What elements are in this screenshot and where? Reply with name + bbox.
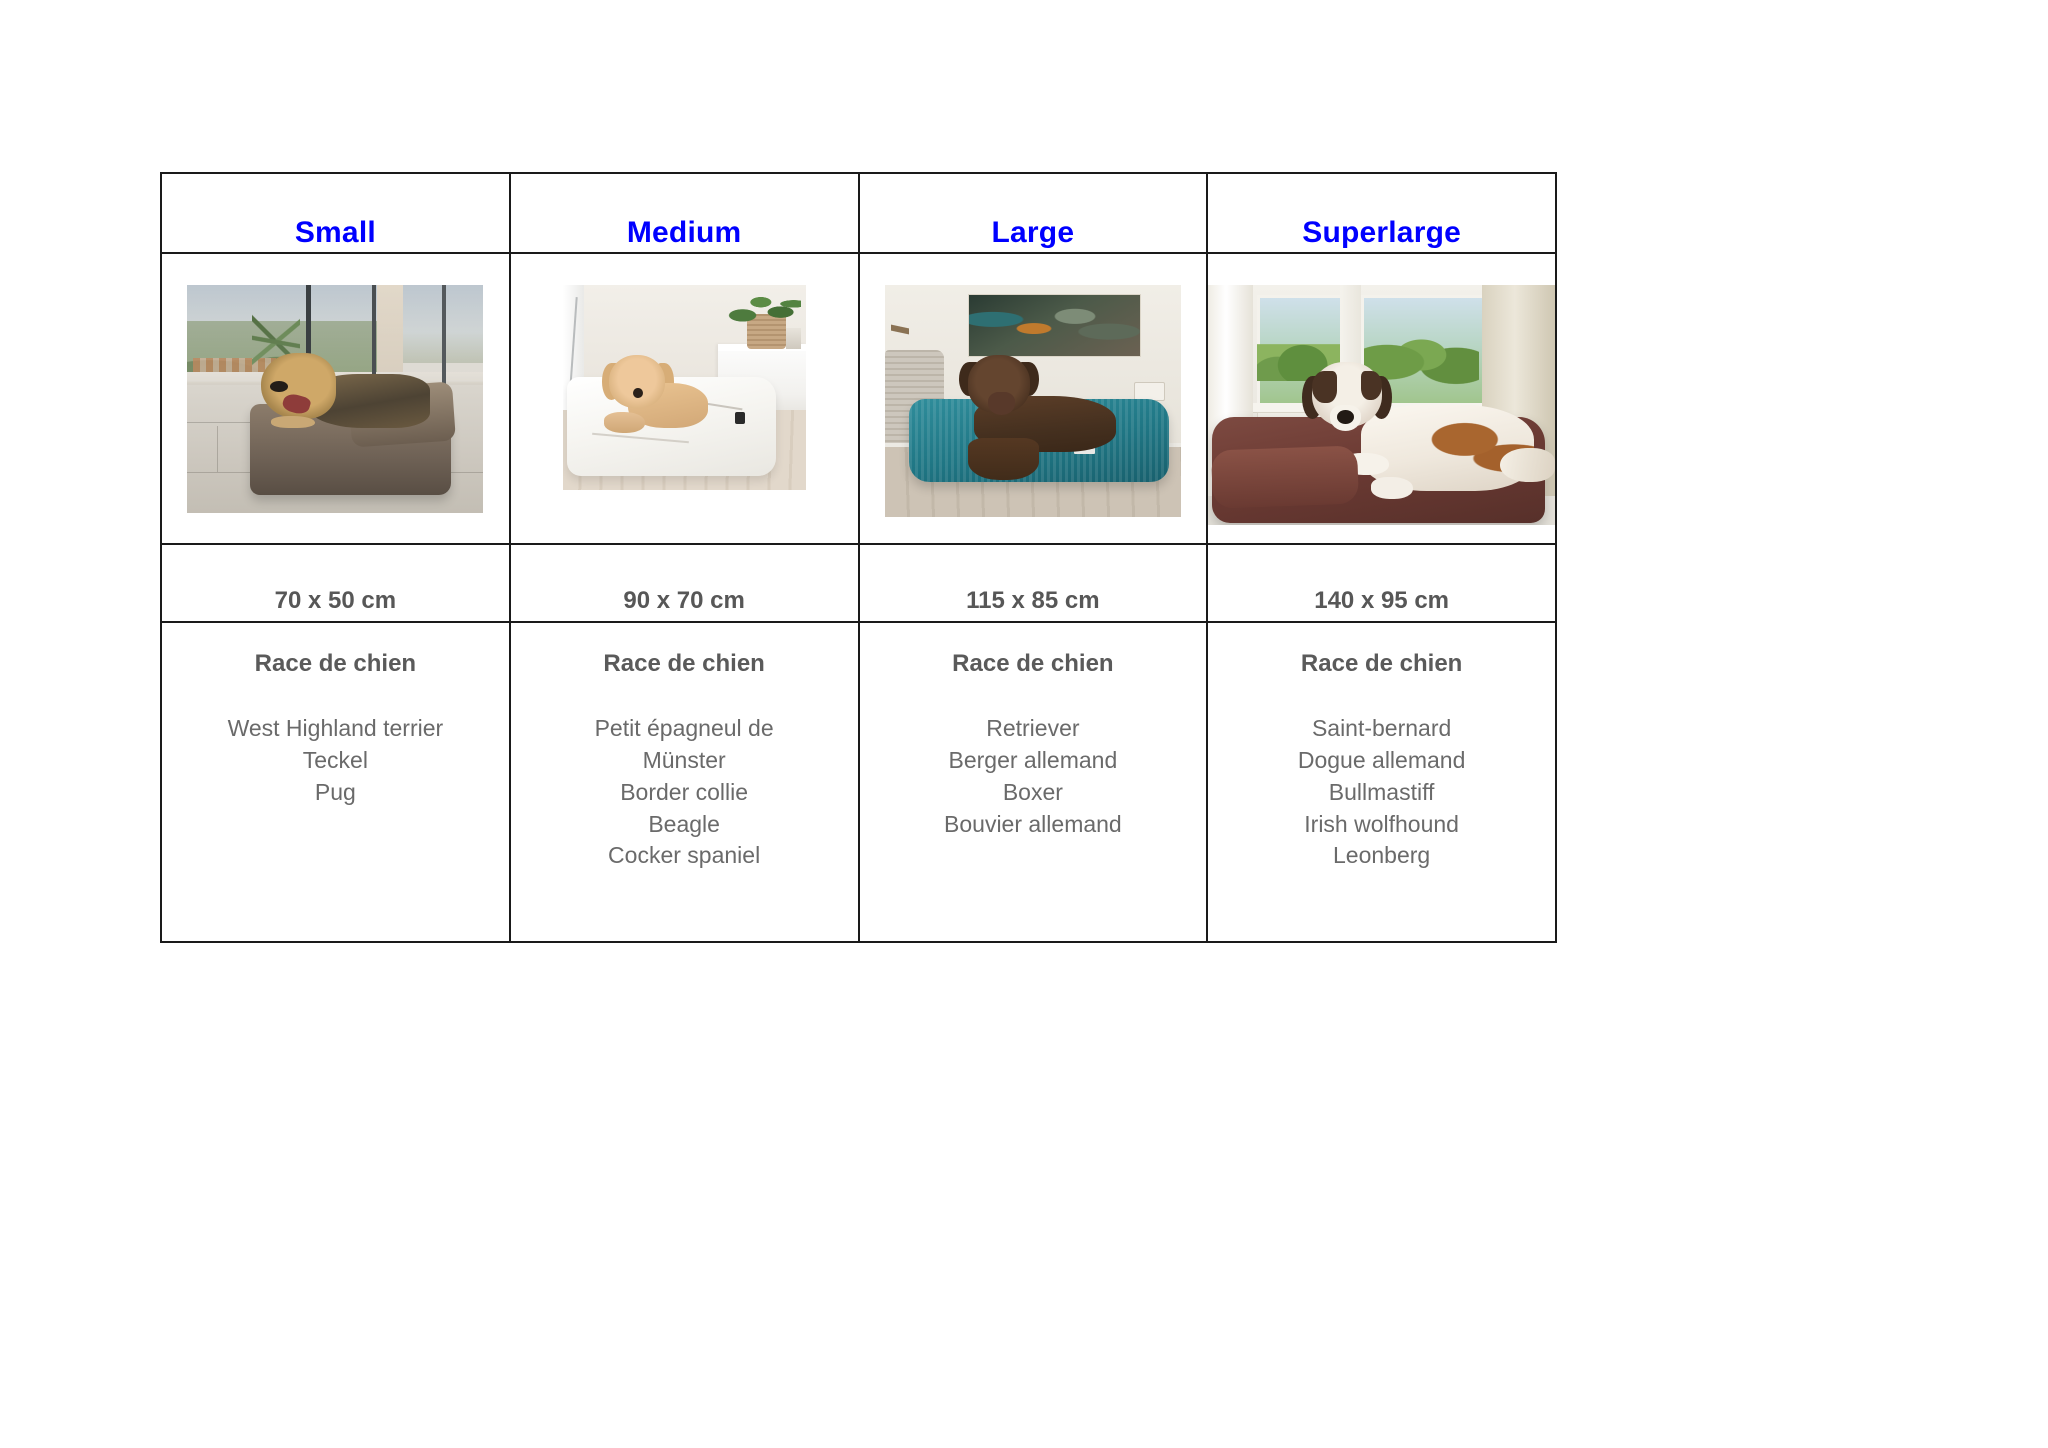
breed-item: Pug — [162, 777, 509, 809]
photo-cell-large — [859, 253, 1208, 544]
column-header-label: Medium — [511, 218, 858, 248]
dimension-cell-small: 70 x 50 cm — [161, 544, 510, 622]
table-header-row: Small Medium Large Superlarge — [161, 173, 1556, 253]
dimension-label: 115 x 85 cm — [860, 589, 1207, 613]
photo-dog-paws — [604, 412, 645, 433]
photo-dog-snout — [988, 392, 1015, 415]
photo-cell-small — [161, 253, 510, 544]
breed-item: West Highland terrier — [162, 713, 509, 745]
breeds-title: Race de chien — [511, 651, 858, 677]
photo-cell-medium — [510, 253, 859, 544]
photo-dog-front-legs — [968, 438, 1039, 480]
product-photo-large — [885, 285, 1181, 517]
breeds-cell-medium: Race de chien Petit épagneul de Münster … — [510, 622, 859, 942]
photo-dog-paw — [1371, 477, 1413, 499]
column-header-label: Large — [860, 218, 1207, 248]
photo-window-mullion — [442, 285, 446, 390]
breed-item: Berger allemand — [860, 745, 1207, 777]
breeds-cell-superlarge: Race de chien Saint-bernard Dogue allema… — [1207, 622, 1556, 942]
photo-dog-paw — [271, 416, 315, 429]
photo-dog-tail — [1500, 448, 1555, 482]
breed-item: Border collie — [511, 777, 858, 809]
breed-item: Saint-bernard — [1208, 713, 1555, 745]
header-cell-large: Large — [859, 173, 1208, 253]
breed-item: Retriever — [860, 713, 1207, 745]
breed-item: Leonberg — [1208, 840, 1555, 872]
product-photo-small — [187, 285, 483, 513]
breed-item: Bouvier allemand — [860, 809, 1207, 841]
breed-item: Petit épagneul de — [511, 713, 858, 745]
dimension-cell-superlarge: 140 x 95 cm — [1207, 544, 1556, 622]
photo-wall-art — [968, 294, 1142, 356]
breeds-title: Race de chien — [1208, 651, 1555, 677]
dimension-cell-large: 115 x 85 cm — [859, 544, 1208, 622]
breed-item: Beagle — [511, 809, 858, 841]
document-page: Small Medium Large Superlarge — [0, 0, 2048, 1448]
photo-frame-medium — [511, 254, 858, 543]
column-header-label: Superlarge — [1208, 218, 1555, 248]
photo-dog-eye-patch-right — [1361, 371, 1382, 400]
breeds-cell-large: Race de chien Retriever Berger allemand … — [859, 622, 1208, 942]
photo-frame-large — [860, 254, 1207, 543]
product-photo-superlarge — [1208, 285, 1555, 525]
breed-item: Boxer — [860, 777, 1207, 809]
photo-brand-tag — [735, 412, 745, 424]
table-dimensions-row: 70 x 50 cm 90 x 70 cm 115 x 85 cm 140 x … — [161, 544, 1556, 622]
photo-cell-superlarge — [1207, 253, 1556, 544]
photo-dog-nose — [633, 388, 643, 398]
dimension-label: 90 x 70 cm — [511, 589, 858, 613]
photo-dog-bed-bolster — [1211, 446, 1359, 509]
photo-dog-head — [609, 355, 665, 408]
dimension-label: 70 x 50 cm — [162, 589, 509, 613]
breeds-cell-small: Race de chien West Highland terrier Teck… — [161, 622, 510, 942]
photo-dog-nose — [270, 381, 289, 392]
column-header-label: Small — [162, 218, 509, 248]
header-cell-small: Small — [161, 173, 510, 253]
breeds-title: Race de chien — [860, 651, 1207, 677]
breed-item: Teckel — [162, 745, 509, 777]
photo-dog-eye-patch-left — [1312, 371, 1336, 402]
breed-item: Bullmastiff — [1208, 777, 1555, 809]
photo-dog-nose — [1337, 410, 1354, 424]
breed-item: Irish wolfhound — [1208, 809, 1555, 841]
photo-frame-superlarge — [1208, 254, 1555, 543]
table-photo-row — [161, 253, 1556, 544]
photo-wall-socket — [1134, 382, 1166, 400]
dog-bed-size-table: Small Medium Large Superlarge — [160, 172, 1557, 943]
table-breeds-row: Race de chien West Highland terrier Teck… — [161, 622, 1556, 942]
photo-candle — [786, 328, 801, 349]
breed-item: Dogue allemand — [1208, 745, 1555, 777]
product-photo-medium — [563, 285, 806, 490]
breed-item: Münster — [511, 745, 858, 777]
dimension-label: 140 x 95 cm — [1208, 589, 1555, 613]
photo-tile-line — [217, 426, 218, 472]
header-cell-medium: Medium — [510, 173, 859, 253]
breed-item: Cocker spaniel — [511, 840, 858, 872]
photo-plant — [728, 289, 801, 322]
header-cell-superlarge: Superlarge — [1207, 173, 1556, 253]
photo-decor-branch — [891, 304, 909, 355]
breeds-title: Race de chien — [162, 651, 509, 677]
dimension-cell-medium: 90 x 70 cm — [510, 544, 859, 622]
photo-frame-small — [162, 254, 509, 543]
photo-dog — [261, 353, 430, 433]
